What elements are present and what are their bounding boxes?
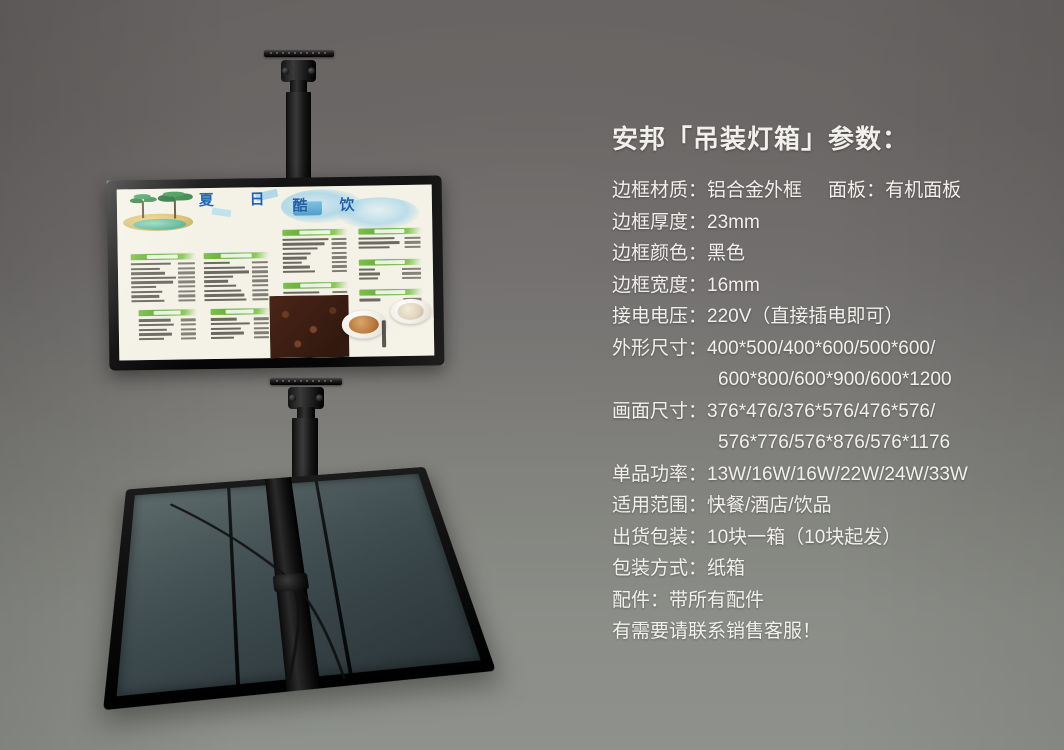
coffee-cup-back <box>391 299 431 324</box>
spec-value: 快餐/酒店/饮品 <box>707 495 832 516</box>
spec-line-frame-color: 边框颜色：黑色 <box>612 238 1042 270</box>
spec-line-picture-size-continued: 576*776/576*876/576*1176 <box>612 427 1042 459</box>
section-header-banner <box>283 281 348 288</box>
spec-line-shipping-pack: 出货包装：10块一箱（10块起发） <box>612 522 1042 554</box>
crema-front <box>349 315 379 334</box>
pivot-bolt-right-upper <box>308 68 315 75</box>
spec-separator: ： <box>688 338 707 359</box>
section-header-banner <box>359 258 421 265</box>
spec-label: 接电电压 <box>612 306 688 327</box>
spec-label: 包装方式 <box>612 558 688 579</box>
coffee-cup-front <box>342 311 387 339</box>
spec-line-packing-method: 包装方式：纸箱 <box>612 553 1042 585</box>
spec-footer-contact: 有需要请联系销售客服！ <box>612 616 1042 648</box>
spec-line-outer-size: 外形尺寸：400*500/400*600/500*600/ <box>612 333 1042 365</box>
pivot-joint-upper <box>281 60 316 82</box>
hanging-lightbox-front: 夏 日 酷 饮 <box>107 175 445 370</box>
spec-label: 外形尺寸 <box>612 338 688 359</box>
mounting-holes-upper <box>270 52 328 54</box>
menu-section <box>359 258 421 281</box>
spec-line-voltage: 接电电压：220V（直接插电即可） <box>612 301 1042 333</box>
menu-row <box>359 275 421 281</box>
headline-char-1: 夏 <box>199 193 214 208</box>
spec-separator: ： <box>650 590 669 611</box>
spec-line-frame-width: 边框宽度：16mm <box>612 270 1042 302</box>
spec-separator: ： <box>688 180 707 201</box>
coffee-beans-image <box>270 295 350 358</box>
spec-separator: ： <box>688 495 707 516</box>
ceiling-plate-upper <box>264 50 334 57</box>
drop-pole-upper <box>286 92 311 182</box>
menu-section <box>204 308 269 340</box>
spec-separator: ： <box>688 558 707 579</box>
pivot-bolt-left-lower <box>289 395 296 402</box>
spec-label: 边框颜色 <box>612 243 688 264</box>
spec-label: 边框宽度 <box>612 275 688 296</box>
spec-value: 23mm <box>707 212 760 233</box>
product-photo-scene: 夏 日 酷 饮 <box>0 0 1064 750</box>
spec-extra-label: 面板 <box>828 180 866 201</box>
hanging-lightbox-back <box>103 467 496 710</box>
spec-label: 出货包装 <box>612 527 688 548</box>
spec-value: 376*476/376*576/476*576/ <box>707 401 935 422</box>
section-header-banner <box>358 228 420 235</box>
mounting-holes-lower <box>276 380 336 382</box>
headline-char-2: 日 <box>249 192 264 207</box>
poster-headline: 夏 日 酷 饮 <box>199 189 395 213</box>
spec-label: 画面尺寸 <box>612 401 688 422</box>
spec-separator: ： <box>688 464 707 485</box>
menu-row <box>359 245 421 251</box>
section-header-banner <box>130 253 195 260</box>
section-header-banner <box>211 308 269 315</box>
palm-tree-left-icon <box>129 194 158 218</box>
spec-label: 边框厚度 <box>612 212 688 233</box>
ceiling-mount-upper <box>248 50 348 180</box>
pivot-joint-lower <box>288 387 324 409</box>
headline-char-3: 酷 <box>292 198 307 213</box>
spec-value: 铝合金外框 <box>707 180 802 201</box>
spec-line-application: 适用范围：快餐/酒店/饮品 <box>612 490 1042 522</box>
section-header-banner <box>139 310 196 317</box>
menu-row <box>283 269 348 275</box>
menu-row <box>204 297 269 303</box>
spec-separator: ： <box>866 180 885 201</box>
spec-value: 10块一箱（10块起发） <box>707 527 901 548</box>
menu-row <box>211 335 269 341</box>
lightbox-acrylic-face: 夏 日 酷 饮 <box>117 185 435 361</box>
mount-plate-lower <box>270 378 342 385</box>
spec-line-accessories: 配件：带所有配件 <box>612 585 1042 617</box>
spec-value: 13W/16W/16W/22W/24W/33W <box>707 464 968 485</box>
spec-value: 16mm <box>707 275 760 296</box>
headline-char-4: 饮 <box>339 198 354 213</box>
spec-value: 400*500/400*600/500*600/ <box>707 338 935 359</box>
spec-line-outer-size-continued: 600*800/600*900/600*1200 <box>612 364 1042 396</box>
spec-separator: ： <box>688 275 707 296</box>
spec-label: 边框材质 <box>612 180 688 201</box>
spec-line-frame-material: 边框材质：铝合金外框面板：有机面板 <box>612 175 1042 207</box>
spec-value: 220V（直接插电即可） <box>707 306 903 327</box>
spec-title: 安邦「吊装灯箱」参数： <box>612 124 1042 155</box>
spec-separator: ： <box>688 212 707 233</box>
coffee-spoon <box>381 321 386 348</box>
spec-label: 适用范围 <box>612 495 688 516</box>
menu-section <box>131 310 196 342</box>
crema-back <box>397 303 424 320</box>
pivot-bolt-left-upper <box>282 68 289 75</box>
menu-section <box>204 252 269 302</box>
spec-line-power: 单品功率：13W/16W/16W/22W/24W/33W <box>612 459 1042 491</box>
spec-value: 带所有配件 <box>669 590 764 611</box>
spec-value: 黑色 <box>707 243 745 264</box>
spec-separator: ： <box>688 243 707 264</box>
menu-row <box>131 298 196 304</box>
spec-separator: ： <box>688 401 707 422</box>
spec-label: 单品功率 <box>612 464 688 485</box>
spec-value: 纸箱 <box>707 558 745 579</box>
section-header-banner <box>204 252 269 259</box>
menu-column-1 <box>130 253 196 345</box>
menu-section <box>282 229 347 275</box>
section-header-banner <box>282 229 347 236</box>
palm-tree-right-icon <box>158 191 193 219</box>
menu-row <box>139 336 196 341</box>
menu-section <box>130 253 195 303</box>
coffee-photo <box>270 294 435 358</box>
spec-panel: 安邦「吊装灯箱」参数： 边框材质：铝合金外框面板：有机面板 边框厚度：23mm … <box>612 124 1042 648</box>
spec-separator: ： <box>688 306 707 327</box>
spec-extra-value: 有机面板 <box>885 180 961 201</box>
spec-line-picture-size: 画面尺寸：376*476/376*576/476*576/ <box>612 396 1042 428</box>
spec-line-frame-thickness: 边框厚度：23mm <box>612 207 1042 239</box>
cable-clamp <box>273 572 310 592</box>
spec-label: 配件 <box>612 590 650 611</box>
spec-separator: ： <box>688 527 707 548</box>
menu-poster: 夏 日 酷 饮 <box>117 185 435 361</box>
menu-column-2 <box>204 252 270 344</box>
menu-section <box>358 228 420 251</box>
pivot-bolt-right-lower <box>316 395 323 402</box>
